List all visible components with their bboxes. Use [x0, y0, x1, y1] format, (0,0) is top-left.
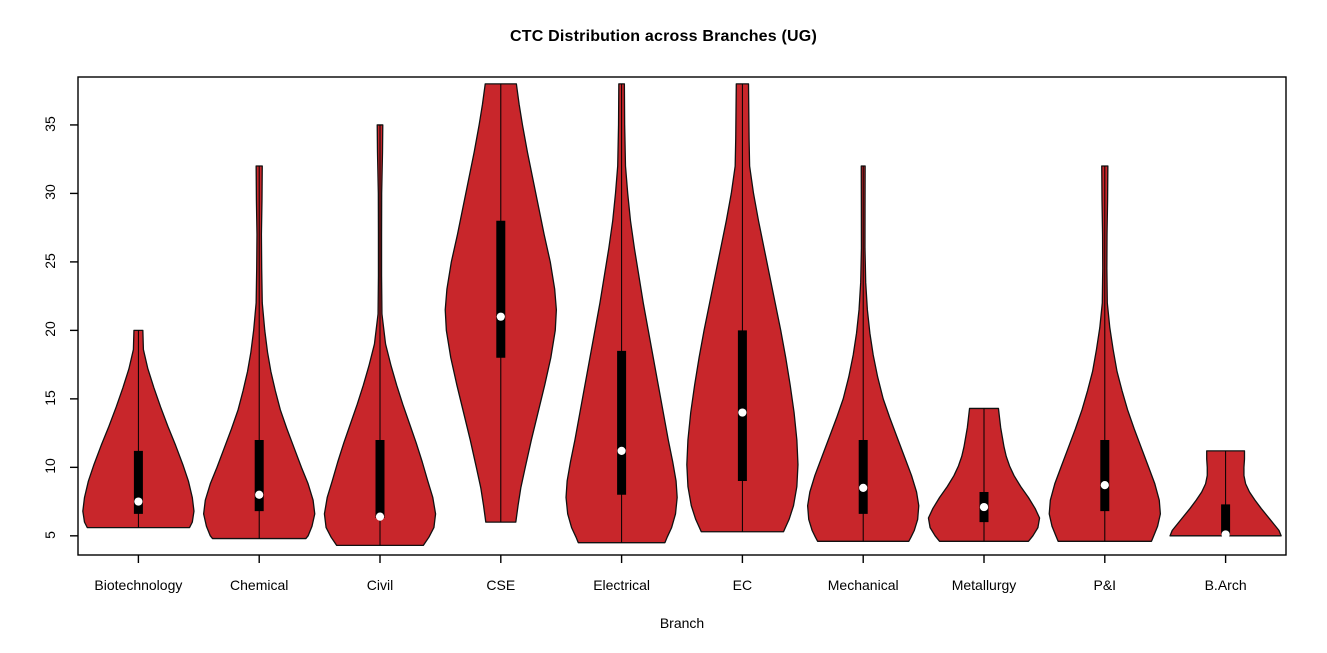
violin-median-marker — [738, 408, 746, 416]
violin-mechanical — [808, 166, 919, 541]
violin-p-i — [1049, 166, 1160, 541]
x-axis-title: Branch — [78, 615, 1286, 631]
x-tick-label-biotechnology: Biotechnology — [94, 577, 182, 593]
violin-median-marker — [980, 503, 988, 511]
violin-median-marker — [1222, 530, 1230, 538]
violin-median-marker — [497, 313, 505, 321]
plot-area — [0, 0, 1327, 653]
violin-median-marker — [859, 484, 867, 492]
violin-median-marker — [376, 513, 384, 521]
x-tick-label-electrical: Electrical — [593, 577, 650, 593]
violin-ec — [687, 84, 798, 532]
violin-median-marker — [618, 447, 626, 455]
x-tick-label-metallurgy: Metallurgy — [952, 577, 1017, 593]
violins-group — [83, 84, 1281, 546]
x-tick-label-b-arch: B.Arch — [1205, 577, 1247, 593]
x-tick-label-mechanical: Mechanical — [828, 577, 899, 593]
violin-chart-figure: CTC Distribution across Branches (UG) CT… — [0, 0, 1327, 653]
violin-chemical — [204, 166, 315, 539]
x-tick-label-cse: CSE — [486, 577, 515, 593]
violin-b-arch — [1170, 451, 1281, 539]
chart-title: CTC Distribution across Branches (UG) — [0, 28, 1327, 46]
violin-civil — [324, 125, 435, 545]
y-tick-label: 20 — [42, 309, 58, 349]
violin-median-marker — [1101, 481, 1109, 489]
y-tick-label: 35 — [42, 104, 58, 144]
y-tick-label: 10 — [42, 446, 58, 486]
x-tick-label-p-i: P&I — [1094, 577, 1117, 593]
x-tick-label-ec: EC — [733, 577, 752, 593]
violin-median-marker — [134, 497, 142, 505]
violin-cse — [445, 84, 556, 522]
y-tick-label: 25 — [42, 241, 58, 281]
violin-biotechnology — [83, 330, 194, 527]
violin-median-marker — [255, 491, 263, 499]
y-tick-label: 15 — [42, 378, 58, 418]
violin-electrical — [566, 84, 677, 543]
violin-metallurgy — [928, 408, 1039, 541]
y-tick-label: 30 — [42, 172, 58, 212]
x-tick-label-civil: Civil — [367, 577, 393, 593]
y-tick-label: 5 — [42, 515, 58, 555]
x-tick-label-chemical: Chemical — [230, 577, 288, 593]
